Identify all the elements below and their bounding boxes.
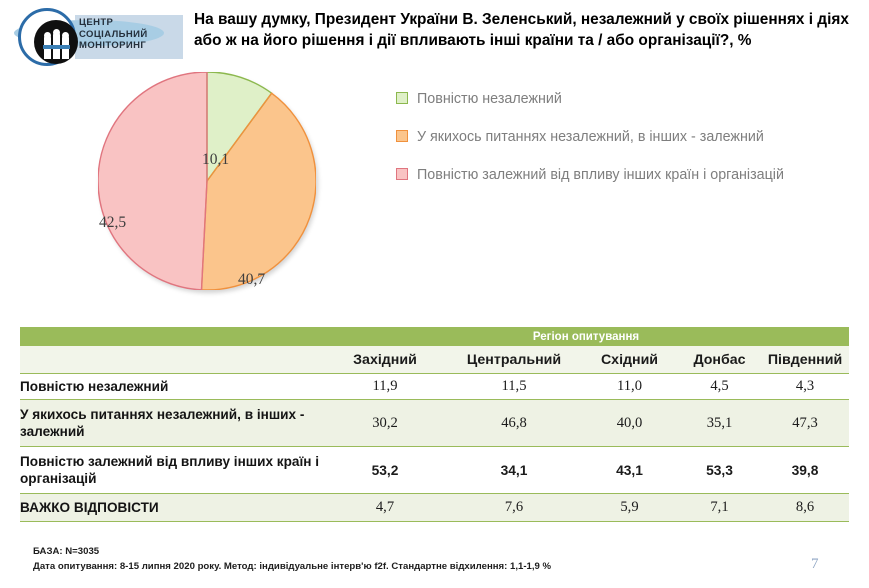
legend-swatch-icon-0 bbox=[396, 92, 408, 104]
legend-label-2: Повністю залежний від впливу інших країн… bbox=[417, 167, 784, 183]
cell-1-2: 40,0 bbox=[581, 400, 678, 447]
cell-0-4: 4,3 bbox=[761, 374, 849, 400]
cell-3-4: 8,6 bbox=[761, 494, 849, 522]
column-header-0: Західний bbox=[323, 346, 447, 374]
cell-0-1: 11,5 bbox=[447, 374, 581, 400]
table-column-header-row: Західний Центральний Східний Донбас Півд… bbox=[20, 346, 849, 374]
cell-3-0: 4,7 bbox=[323, 494, 447, 522]
pie-value-label-2: 42,5 bbox=[99, 214, 126, 232]
legend-label-1: У якихось питаннях незалежний, в інших -… bbox=[417, 129, 764, 145]
organization-logo: ЦЕНТР СОЦІАЛЬНИЙ МОНІТОРИНГ bbox=[12, 6, 187, 68]
cell-0-0: 11,9 bbox=[323, 374, 447, 400]
logo-wordmark: ЦЕНТР СОЦІАЛЬНИЙ МОНІТОРИНГ bbox=[79, 17, 148, 52]
pie-chart: 10,1 40,7 42,5 bbox=[86, 66, 336, 294]
legend-swatch-icon-2 bbox=[396, 168, 408, 180]
legend-item-1: У якихось питаннях незалежний, в інших -… bbox=[396, 126, 816, 148]
cell-1-0: 30,2 bbox=[323, 400, 447, 447]
row-label-3: ВАЖКО ВІДПОВІСТИ bbox=[20, 494, 323, 522]
cell-1-4: 47,3 bbox=[761, 400, 849, 447]
cell-3-1: 7,6 bbox=[447, 494, 581, 522]
table-group-header-row: Регіон опитування bbox=[20, 327, 849, 346]
cell-2-0: 53,2 bbox=[323, 447, 447, 494]
chart-title: На вашу думку, Президент України В. Зеле… bbox=[194, 10, 859, 51]
column-header-3: Донбас bbox=[678, 346, 761, 374]
column-header-1: Центральний bbox=[447, 346, 581, 374]
legend-item-0: Повністю незалежний bbox=[396, 88, 816, 110]
footer-notes: БАЗА: N=3035 Дата опитування: 8-15 липня… bbox=[33, 544, 551, 574]
pie-value-label-1: 40,7 bbox=[238, 271, 265, 289]
footer-details: Дата опитування: 8-15 липня 2020 року. М… bbox=[33, 559, 551, 574]
cell-1-1: 46,8 bbox=[447, 400, 581, 447]
table-row: У якихось питаннях незалежний, в інших -… bbox=[20, 400, 849, 447]
column-header-2: Східний bbox=[581, 346, 678, 374]
cell-2-2: 43,1 bbox=[581, 447, 678, 494]
regional-breakdown-table: Регіон опитування Західний Центральний С… bbox=[20, 327, 849, 522]
pie-value-label-0: 10,1 bbox=[202, 151, 229, 169]
legend-item-2: Повністю залежний від впливу інших країн… bbox=[396, 164, 816, 186]
cell-2-4: 39,8 bbox=[761, 447, 849, 494]
table-row: ВАЖКО ВІДПОВІСТИ 4,7 7,6 5,9 7,1 8,6 bbox=[20, 494, 849, 522]
legend-label-0: Повністю незалежний bbox=[417, 91, 562, 107]
row-label-2: Повністю залежний від впливу інших країн… bbox=[20, 447, 323, 494]
logo-people-icon bbox=[34, 20, 78, 64]
cell-1-3: 35,1 bbox=[678, 400, 761, 447]
cell-0-2: 11,0 bbox=[581, 374, 678, 400]
cell-3-2: 5,9 bbox=[581, 494, 678, 522]
column-header-4: Південний bbox=[761, 346, 849, 374]
table-row: Повністю незалежний 11,9 11,5 11,0 4,5 4… bbox=[20, 374, 849, 400]
pie-slices bbox=[98, 72, 316, 290]
column-header-blank bbox=[20, 346, 323, 374]
row-label-1: У якихось питаннях незалежний, в інших -… bbox=[20, 400, 323, 447]
footer-base: БАЗА: N=3035 bbox=[33, 544, 551, 559]
cell-3-3: 7,1 bbox=[678, 494, 761, 522]
chart-legend: Повністю незалежний У якихось питаннях н… bbox=[396, 88, 816, 202]
table-row: Повністю залежний від впливу інших країн… bbox=[20, 447, 849, 494]
row-label-0: Повністю незалежний bbox=[20, 374, 323, 400]
cell-2-3: 53,3 bbox=[678, 447, 761, 494]
legend-swatch-icon-1 bbox=[396, 130, 408, 142]
cell-0-3: 4,5 bbox=[678, 374, 761, 400]
group-header-region: Регіон опитування bbox=[323, 327, 849, 346]
cell-2-1: 34,1 bbox=[447, 447, 581, 494]
page-number: 7 bbox=[811, 556, 819, 573]
logo-ring bbox=[18, 8, 76, 66]
